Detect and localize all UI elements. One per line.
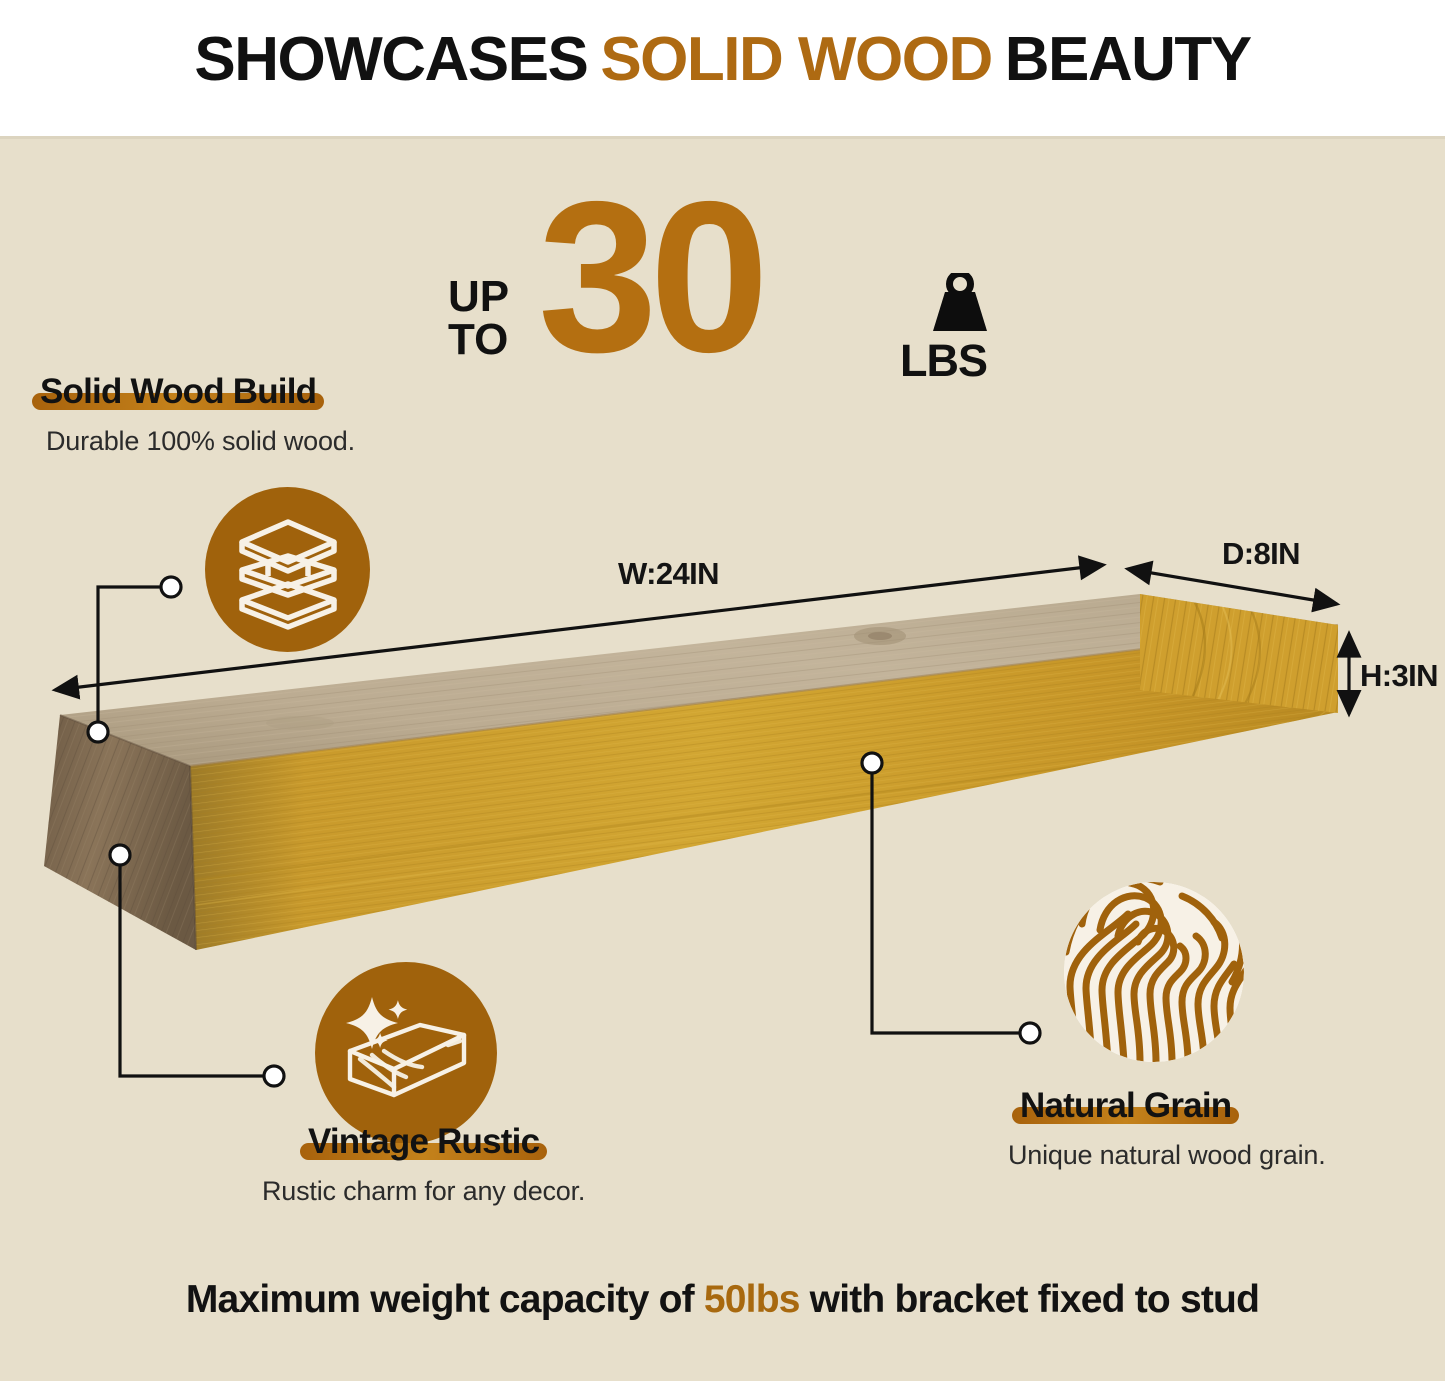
- feature-title-text: Natural Grain: [1020, 1086, 1231, 1125]
- caption-highlight: 50lbs: [704, 1278, 800, 1321]
- wood-grain-icon: [1064, 882, 1244, 1062]
- wood-grain-glyph: [1064, 882, 1244, 1062]
- feature-title-text: Vintage Rustic: [308, 1122, 539, 1161]
- caption-after: with bracket fixed to stud: [800, 1278, 1259, 1321]
- dimension-width-label: W:24IN: [618, 556, 719, 592]
- headline-part-1: SHOWCASES: [194, 24, 587, 95]
- feature-title-natural-grain: Natural Grain: [1012, 1086, 1239, 1126]
- caption-before: Maximum weight capacity of: [186, 1278, 704, 1321]
- feature-subtitle-solid-wood-build: Durable 100% solid wood.: [46, 426, 355, 457]
- dimension-height-label: H:3IN: [1360, 658, 1438, 694]
- feature-title-solid-wood-build: Solid Wood Build: [32, 372, 324, 412]
- feature-vintage-rustic: Vintage Rustic Rustic charm for any deco…: [262, 1122, 585, 1207]
- stacked-boards-glyph: [228, 510, 348, 630]
- dimension-depth-label: D:8IN: [1222, 536, 1300, 572]
- sparkling-plank-glyph: [336, 983, 476, 1123]
- feature-subtitle-vintage-rustic: Rustic charm for any decor.: [262, 1176, 585, 1207]
- feature-title-text: Solid Wood Build: [40, 372, 316, 411]
- header-band: SHOWCASES SOLID WOOD BEAUTY: [0, 0, 1445, 136]
- weight-capacity-block: UP TO 30 LBS: [440, 185, 1020, 400]
- headline-part-3: BEAUTY: [1005, 24, 1251, 95]
- up-to-label: UP TO: [448, 275, 509, 361]
- bottom-caption: Maximum weight capacity of 50lbs with br…: [0, 1278, 1445, 1322]
- to-label: TO: [448, 318, 509, 361]
- headline: SHOWCASES SOLID WOOD BEAUTY: [0, 0, 1445, 118]
- headline-part-2: SOLID WOOD: [600, 24, 991, 95]
- infographic-canvas: SHOWCASES SOLID WOOD BEAUTY: [0, 0, 1445, 1381]
- stacked-boards-icon: [205, 487, 370, 652]
- capacity-unit: LBS: [900, 335, 987, 387]
- panel-top-divider: [0, 136, 1445, 139]
- up-label: UP: [448, 275, 509, 318]
- capacity-number: 30: [538, 169, 761, 384]
- feature-solid-wood-build: Solid Wood Build Durable 100% solid wood…: [32, 372, 355, 457]
- feature-title-vintage-rustic: Vintage Rustic: [300, 1122, 547, 1162]
- feature-natural-grain: Natural Grain Unique natural wood grain.: [1012, 1086, 1326, 1171]
- feature-subtitle-natural-grain: Unique natural wood grain.: [1008, 1140, 1326, 1171]
- weight-icon: [925, 273, 995, 335]
- sparkling-plank-icon: [315, 962, 497, 1144]
